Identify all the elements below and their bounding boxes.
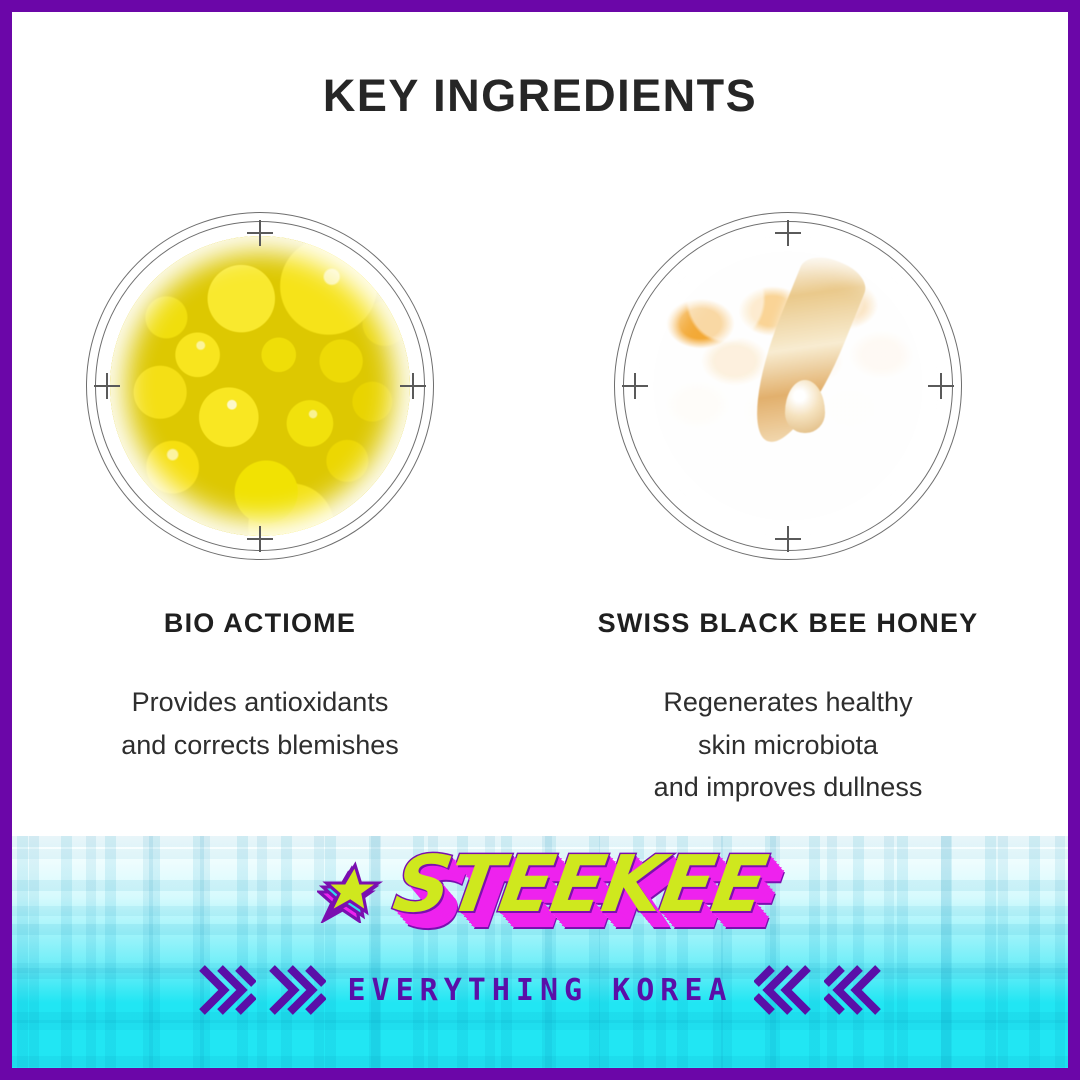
ingredient-card-swiss-black-bee-honey: SWISS BLACK BEE HONEY Regenerates health… — [524, 212, 1052, 809]
brand-tagline: EVERYTHING KOREA — [348, 973, 733, 1008]
crosshair-icon-top — [775, 220, 801, 246]
chevron-left-icon — [754, 964, 882, 1016]
crosshair-icon-left — [94, 373, 120, 399]
page-title: KEY INGREDIENTS — [12, 70, 1068, 122]
ingredient-name-bio-actiome: BIO ACTIOME — [164, 608, 356, 639]
brand-banner: STEEKEE EVERYTHING KOREA — [12, 836, 1068, 1068]
description-line: Regenerates healthy — [654, 681, 923, 724]
description-line: and corrects blemishes — [121, 724, 399, 767]
ingredient-name-swiss-black-bee-honey: SWISS BLACK BEE HONEY — [598, 608, 979, 639]
crosshair-icon-top — [247, 220, 273, 246]
ingredient-card-bio-actiome: BIO ACTIOME Provides antioxidants and co… — [12, 212, 524, 809]
description-line: and improves dullness — [654, 766, 923, 809]
ingredients-row: BIO ACTIOME Provides antioxidants and co… — [12, 212, 1068, 809]
crosshair-icon-bottom — [247, 526, 273, 552]
brand-logo-text: STEEKEE — [388, 846, 769, 924]
swatch-ring-inner — [95, 221, 425, 551]
ingredient-description-bio-actiome: Provides antioxidants and corrects blemi… — [121, 681, 399, 766]
swatch-ring-inner — [623, 221, 953, 551]
poster-frame: KEY INGREDIENTS BIO ACTIOME Provides ant — [12, 12, 1068, 1068]
crosshair-icon-left — [622, 373, 648, 399]
description-line: Provides antioxidants — [121, 681, 399, 724]
crosshair-icon-right — [928, 373, 954, 399]
ingredient-image-swiss-black-bee-honey — [614, 212, 962, 560]
brand-logo: STEEKEE — [12, 846, 1068, 924]
description-line: skin microbiota — [654, 724, 923, 767]
crosshair-icon-right — [400, 373, 426, 399]
crosshair-icon-bottom — [775, 526, 801, 552]
chevron-right-icon — [198, 964, 326, 1016]
brand-tagline-row: EVERYTHING KOREA — [12, 964, 1068, 1016]
ingredient-image-bio-actiome — [86, 212, 434, 560]
ingredient-description-swiss-black-bee-honey: Regenerates healthy skin microbiota and … — [654, 681, 923, 809]
star-icon — [317, 851, 389, 923]
